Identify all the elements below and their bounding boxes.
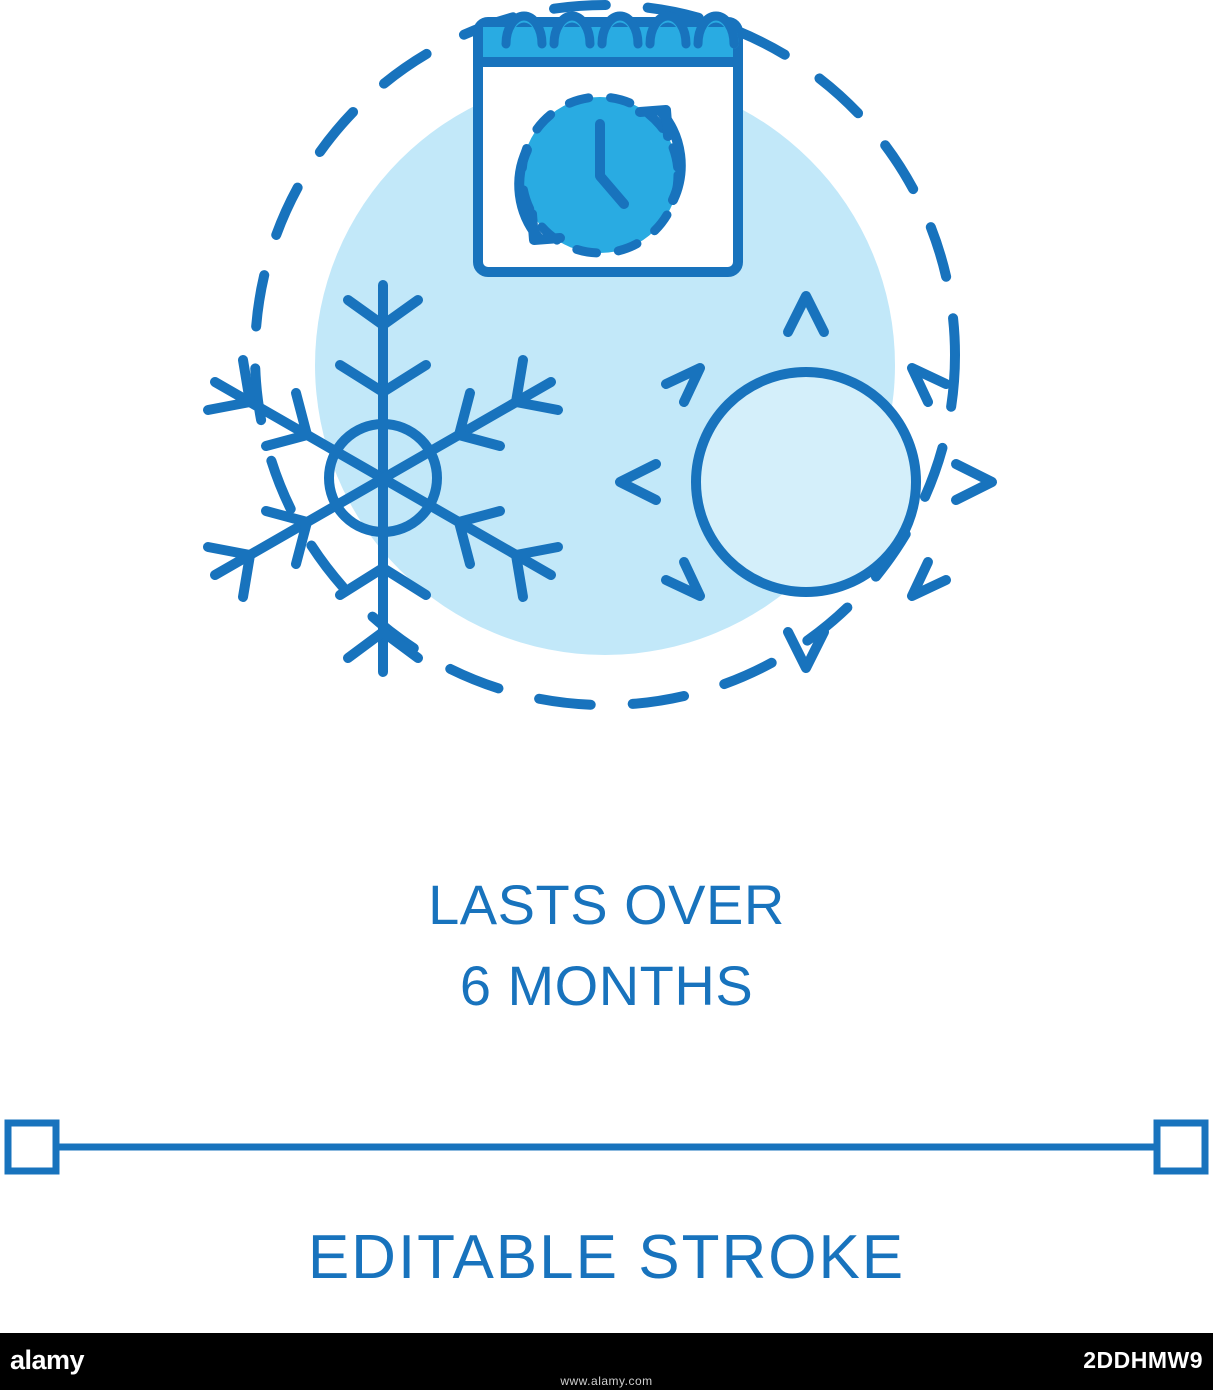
stroke-handle-right-icon[interactable] [1157, 1123, 1205, 1171]
clock-refresh-icon [519, 97, 681, 253]
image-id: 2DDHMW9 [1083, 1347, 1203, 1374]
illustration-canvas: LASTS OVER 6 MONTHS EDITABLE STROKE alam… [0, 0, 1213, 1390]
editable-stroke-label: EDITABLE STROKE [0, 1222, 1213, 1293]
alamy-brand: alamy [10, 1345, 84, 1376]
page-title: LASTS OVER 6 MONTHS [0, 865, 1213, 1026]
caption-line-2: 6 MONTHS [0, 946, 1213, 1027]
concept-illustration [0, 0, 1213, 740]
editable-stroke-bar [0, 1112, 1213, 1182]
watermark-footer: alamy 2DDHMW9 www.alamy.com [0, 1333, 1213, 1390]
alamy-url: www.alamy.com [0, 1374, 1213, 1388]
stroke-handle-left-icon[interactable] [8, 1123, 56, 1171]
caption-line-1: LASTS OVER [0, 865, 1213, 946]
